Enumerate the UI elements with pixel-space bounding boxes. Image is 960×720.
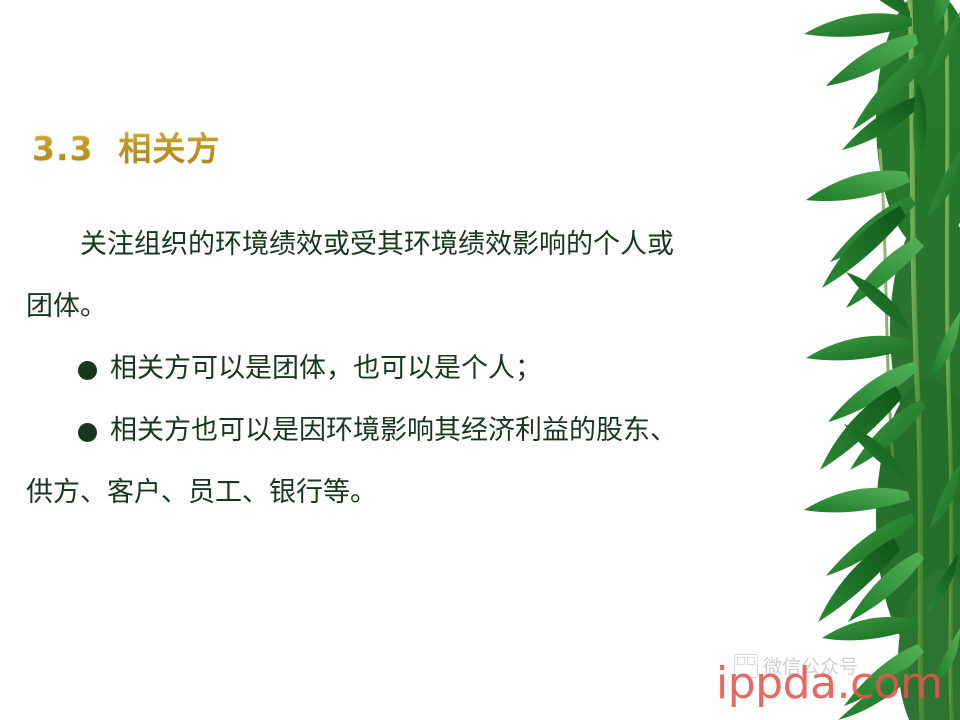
body-paragraph: 关注组织的环境绩效或受其环境绩效影响的个人或 bbox=[26, 214, 826, 276]
slide-body: 关注组织的环境绩效或受其环境绩效影响的个人或 团体。 相关方可以是团体，也可以是… bbox=[26, 214, 826, 524]
site-watermark: ippda.com bbox=[716, 662, 942, 706]
body-paragraph: 团体。 bbox=[26, 276, 826, 338]
list-item: 相关方可以是团体，也可以是个人； bbox=[26, 338, 826, 400]
faint-watermark: 微信公众号 bbox=[734, 652, 858, 679]
watermark-zone: 微信公众号 ippda.com bbox=[716, 648, 952, 718]
bullet-dot-icon bbox=[78, 423, 97, 442]
slide-canvas: 3.3 相关方 关注组织的环境绩效或受其环境绩效影响的个人或 团体。 相关方可以… bbox=[0, 0, 960, 720]
page-title: 3.3 相关方 bbox=[32, 128, 220, 169]
list-item: 相关方也可以是因环境影响其经济利益的股东、 bbox=[26, 400, 826, 462]
body-continuation: 供方、客户、员工、银行等。 bbox=[26, 462, 826, 524]
bullet-dot-icon bbox=[78, 361, 97, 380]
list-item-label: 相关方可以是团体，也可以是个人； bbox=[110, 338, 542, 400]
faint-watermark-label: 微信公众号 bbox=[763, 652, 858, 679]
list-item-label: 相关方也可以是因环境影响其经济利益的股东、 bbox=[110, 400, 677, 462]
title-block: 3.3 相关方 bbox=[32, 128, 220, 169]
qr-code-icon bbox=[734, 654, 758, 678]
